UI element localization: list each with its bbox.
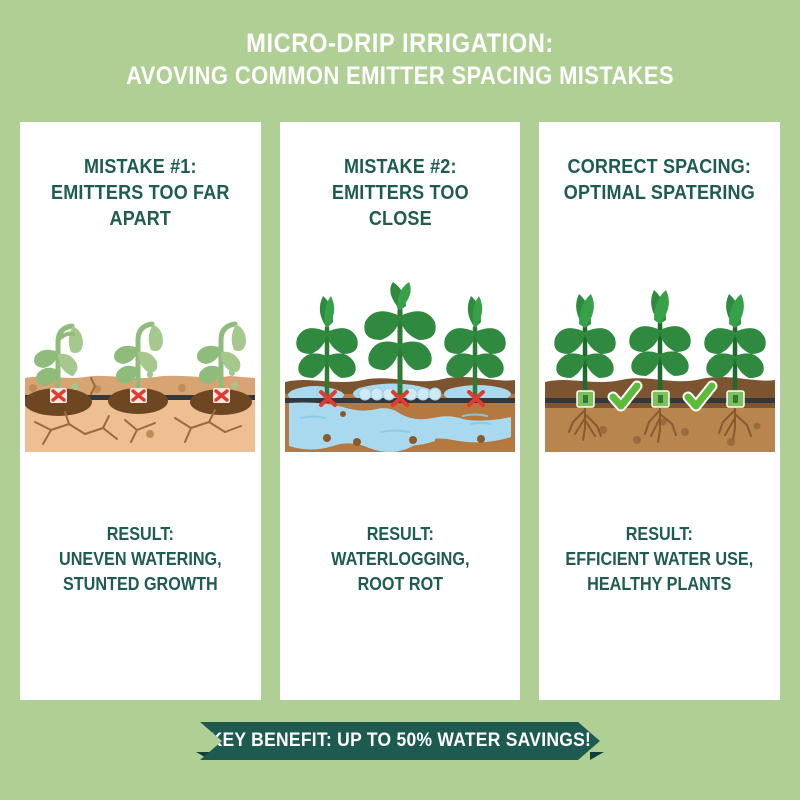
panel-too-far: MISTAKE #1: EMITTERS TOO FAR APART (20, 122, 261, 700)
panel-title: MISTAKE #1: EMITTERS TOO FAR APART (32, 154, 249, 232)
page-title-line-1: MICRO-DRIP IRRIGATION: (48, 26, 752, 60)
panel-correct: CORRECT SPACING: OPTIMAL SPATERING (539, 122, 780, 700)
key-benefit-ribbon: KEY BENEFIT: UP TO 50% WATER SAVINGS! (200, 722, 600, 760)
panel-title: MISTAKE #2: EMITTERS TOO CLOSE (292, 154, 509, 232)
emitter-error-marker (130, 388, 147, 403)
panel-illustration-wrap (20, 282, 261, 452)
key-benefit-text: KEY BENEFIT: UP TO 50% WATER SAVINGS! (209, 730, 591, 752)
panel-illustration-wrap (539, 282, 780, 452)
panel-row: MISTAKE #1: EMITTERS TOO FAR APART (20, 122, 780, 700)
illustration-wilted-dry-soil (25, 282, 255, 452)
panel-result: RESULT: WATERLOGGING, ROOT ROT (292, 522, 509, 597)
emitter-ok-marker (577, 391, 594, 407)
panel-title: CORRECT SPACING: OPTIMAL SPATERING (551, 154, 768, 206)
panel-result: RESULT: EFFICIENT WATER USE, HEALTHY PLA… (551, 522, 768, 597)
ribbon-fold-right (590, 752, 604, 760)
panel-result: RESULT: UNEVEN WATERING, STUNTED GROWTH (32, 522, 249, 597)
emitter-error-marker (50, 388, 67, 403)
illustration-waterlogged-soil (285, 282, 515, 452)
infographic-header: MICRO-DRIP IRRIGATION: AVOVING COMMON EM… (0, 26, 800, 93)
emitter-error-marker (213, 388, 230, 403)
panel-illustration-wrap (280, 282, 521, 452)
emitter-ok-marker (727, 391, 744, 407)
panel-too-close: MISTAKE #2: EMITTERS TOO CLOSE (280, 122, 521, 700)
illustration-correct-spacing (545, 282, 775, 452)
page-title-line-2: AVOVING COMMON EMITTER SPACING MISTAKES (48, 60, 752, 93)
emitter-ok-marker (652, 391, 669, 407)
